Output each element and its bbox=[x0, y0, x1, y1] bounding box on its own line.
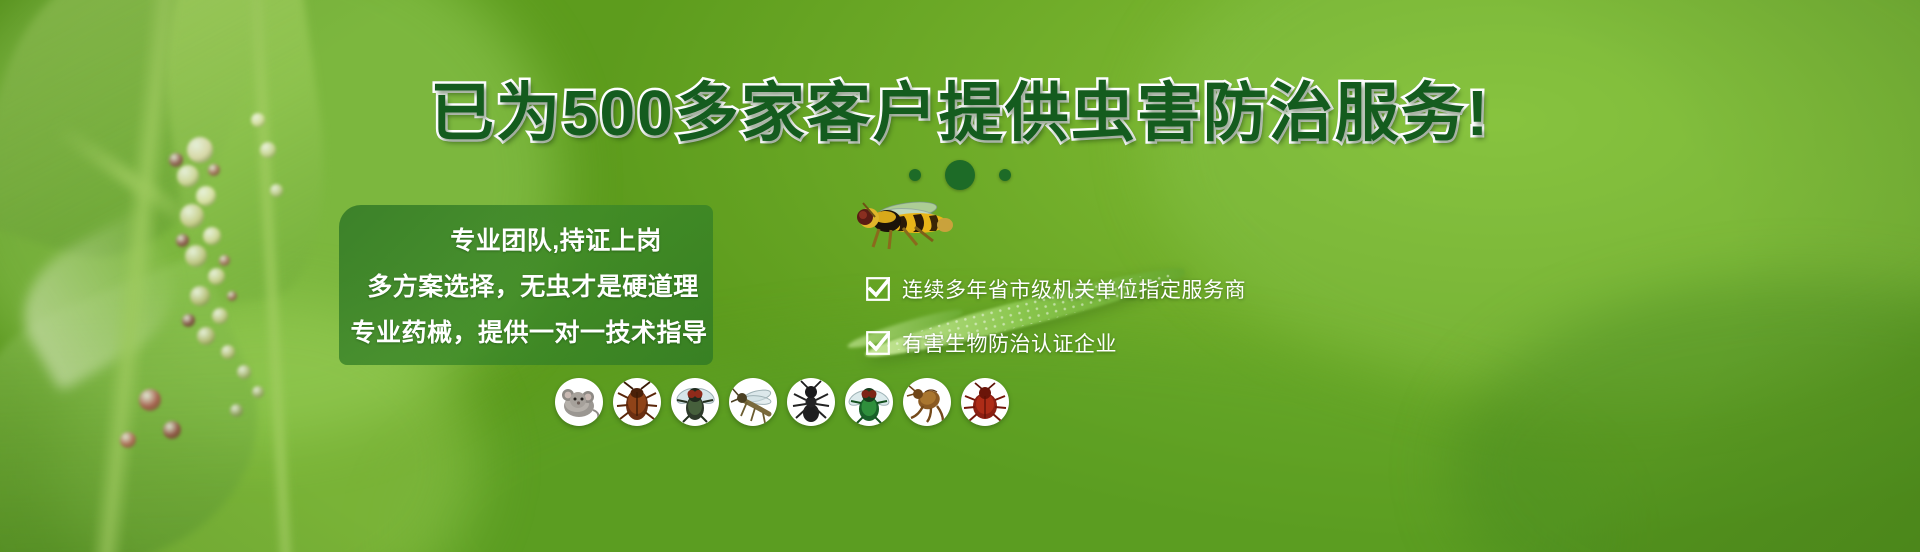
feature-line-3: 专业药械，提供一对一技术指导 bbox=[339, 313, 713, 349]
feature-line-1: 专业团队,持证上岗 bbox=[339, 221, 713, 257]
plant-bud bbox=[197, 327, 215, 345]
plant-bud bbox=[182, 314, 195, 327]
bedbug-icon[interactable] bbox=[961, 378, 1009, 426]
checklist-item-label: 连续多年省市级机关单位指定服务商 bbox=[902, 274, 1246, 304]
fly-icon[interactable] bbox=[671, 378, 719, 426]
plant-bud bbox=[203, 227, 221, 245]
plant-bud bbox=[208, 268, 225, 285]
plant-bud bbox=[139, 389, 161, 411]
plant-bud bbox=[219, 255, 230, 266]
plant-bud bbox=[230, 404, 243, 417]
checklist-item: 连续多年省市级机关单位指定服务商 bbox=[866, 274, 1246, 304]
checkbox-checked-icon bbox=[866, 331, 890, 355]
large-dot-icon bbox=[945, 160, 975, 190]
cockroach-icon[interactable] bbox=[613, 378, 661, 426]
small-dot-icon bbox=[999, 169, 1011, 181]
checklist-item: 有害生物防治认证企业 bbox=[866, 328, 1246, 358]
plant-bud bbox=[227, 291, 237, 301]
mosquito-icon[interactable] bbox=[729, 378, 777, 426]
small-dot-icon bbox=[909, 169, 921, 181]
plant-bud bbox=[252, 386, 264, 398]
blowfly-icon[interactable] bbox=[845, 378, 893, 426]
checkbox-checked-icon bbox=[866, 277, 890, 301]
plant-bud bbox=[180, 204, 204, 228]
credentials-checklist: 连续多年省市级机关单位指定服务商 有害生物防治认证企业 bbox=[866, 274, 1246, 358]
plant-bud bbox=[237, 365, 251, 379]
plant-bud bbox=[176, 234, 189, 247]
feature-line-2: 多方案选择，无虫才是硬道理 bbox=[339, 267, 713, 303]
page-title: 已为500多家客户提供虫害防治服务! bbox=[0, 76, 1920, 150]
headline-text: 已为500多家客户提供虫害防治服务! bbox=[430, 77, 1490, 149]
feature-panel-lines: 专业团队,持证上岗 多方案选择，无虫才是硬道理 专业药械，提供一对一技术指导 bbox=[339, 205, 713, 365]
plant-bud bbox=[163, 421, 181, 439]
decorative-dots bbox=[0, 160, 1920, 190]
pest-icon-row bbox=[555, 378, 1009, 426]
plant-bud bbox=[190, 286, 210, 306]
hoverfly-icon bbox=[845, 195, 965, 255]
pest-control-hero-banner: 已为500多家客户提供虫害防治服务! 专业团队,持证上岗 多方案选择，无虫才是硬… bbox=[0, 0, 1920, 552]
plant-bud bbox=[120, 432, 136, 448]
checklist-item-label: 有害生物防治认证企业 bbox=[902, 328, 1117, 358]
flea-icon[interactable] bbox=[903, 378, 951, 426]
mouse-icon[interactable] bbox=[555, 378, 603, 426]
feature-panel: 专业团队,持证上岗 多方案选择，无虫才是硬道理 专业药械，提供一对一技术指导 bbox=[339, 205, 713, 365]
plant-bud bbox=[212, 308, 228, 324]
ant-icon[interactable] bbox=[787, 378, 835, 426]
plant-bud bbox=[221, 345, 235, 359]
plant-bud bbox=[185, 245, 207, 267]
